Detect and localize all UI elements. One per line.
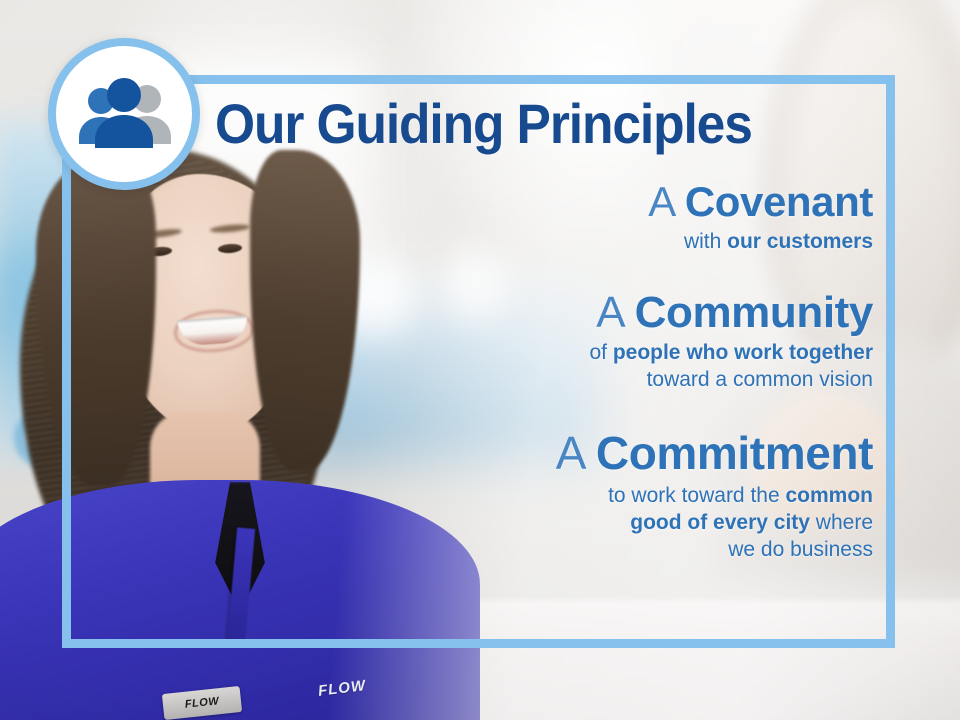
principle-subtext-line: with our customers [300, 229, 873, 256]
name-badge-text: FLOW [184, 695, 219, 711]
principle-item: A Covenant with our customers [300, 180, 873, 256]
emphasis-text: people who work together [613, 341, 873, 364]
principle-subtext: of people who work togethertoward a comm… [300, 340, 873, 394]
principle-word: Commitment [596, 427, 873, 479]
principle-heading: A Covenant [300, 180, 873, 224]
plain-text: we do business [728, 538, 873, 561]
principle-heading: A Community [300, 290, 873, 336]
emphasis-text: good of every city [630, 511, 810, 534]
principle-subtext-line: good of every city where [300, 510, 873, 537]
page-title: Our Guiding Principles [215, 96, 822, 152]
people-badge [48, 38, 200, 190]
principle-item: A Commitment to work toward the commongo… [300, 430, 873, 563]
plain-text: with [684, 230, 727, 253]
principle-subtext-line: toward a common vision [300, 367, 873, 394]
emphasis-text: our customers [727, 230, 873, 253]
principle-article: A [556, 427, 584, 479]
principle-subtext: to work toward the commongood of every c… [300, 483, 873, 564]
principle-subtext-line: to work toward the common [300, 483, 873, 510]
principle-word: Community [635, 288, 873, 337]
principle-subtext: with our customers [300, 229, 873, 256]
plain-text: toward a common vision [647, 368, 873, 391]
poster-canvas: FLOW FLOW Our Guiding Principles [0, 0, 960, 720]
principle-word: Covenant [685, 178, 873, 225]
plain-text: where [810, 511, 873, 534]
principle-subtext-line: of people who work together [300, 340, 873, 367]
emphasis-text: common [785, 484, 873, 507]
principle-article: A [648, 178, 673, 225]
principle-article: A [596, 288, 623, 337]
plain-text: to work toward the [608, 484, 785, 507]
principle-item: A Community of people who work togethert… [300, 290, 873, 395]
plain-text: of [589, 341, 612, 364]
principle-subtext-line: we do business [300, 537, 873, 564]
principle-heading: A Commitment [300, 430, 873, 478]
people-group-icon [71, 76, 177, 152]
principles-list: A Covenant with our customers A Communit… [300, 180, 895, 582]
